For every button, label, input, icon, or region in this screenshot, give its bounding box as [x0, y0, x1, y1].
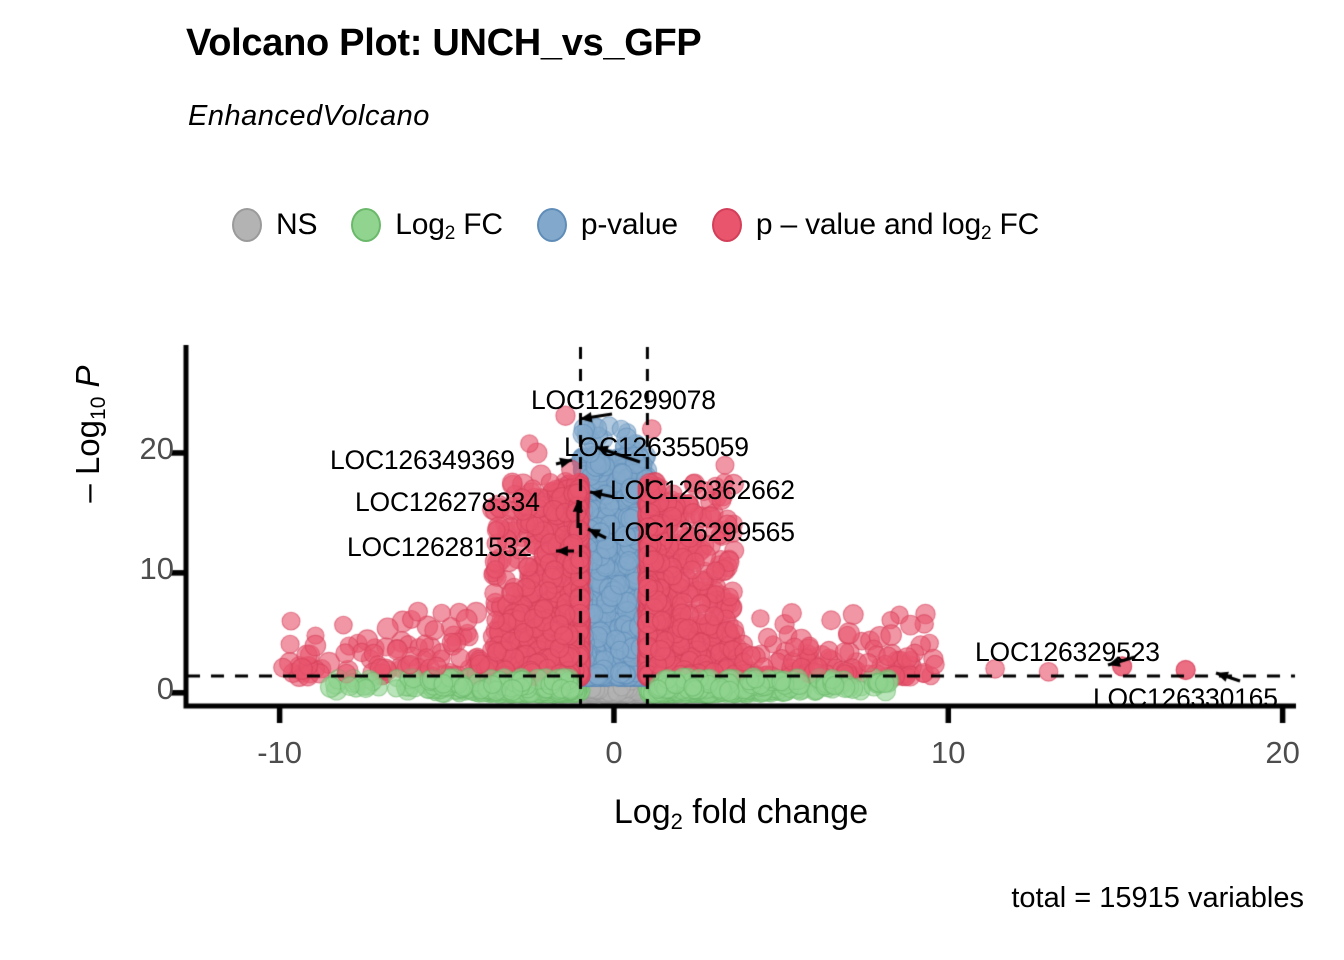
- gene-label: LOC126299078: [531, 385, 716, 416]
- gene-label: LOC126355059: [564, 432, 749, 463]
- x-tick-label: 0: [605, 735, 622, 771]
- y-tick-label: 20: [140, 431, 174, 467]
- y-tick-label: 10: [140, 551, 174, 587]
- total-variables-caption: total = 15915 variables: [1011, 882, 1304, 915]
- gene-label: LOC126329523: [975, 637, 1160, 668]
- gene-label: LOC126330165: [1093, 683, 1278, 714]
- gene-label: LOC126362662: [610, 475, 795, 506]
- gene-label: LOC126278334: [355, 487, 540, 518]
- gene-label: LOC126299565: [610, 517, 795, 548]
- x-tick-label: 10: [931, 735, 965, 771]
- y-axis-title: – Log10 P: [69, 284, 107, 584]
- x-tick-label: -10: [257, 735, 302, 771]
- volcano-plot-figure: Volcano Plot: UNCH_vs_GFP EnhancedVolcan…: [0, 0, 1344, 960]
- x-tick-label: 20: [1265, 735, 1299, 771]
- gene-label: LOC126281532: [347, 532, 532, 563]
- gene-label: LOC126349369: [330, 445, 515, 476]
- x-axis-title: Log2 fold change: [186, 793, 1296, 832]
- y-tick-label: 0: [157, 671, 174, 707]
